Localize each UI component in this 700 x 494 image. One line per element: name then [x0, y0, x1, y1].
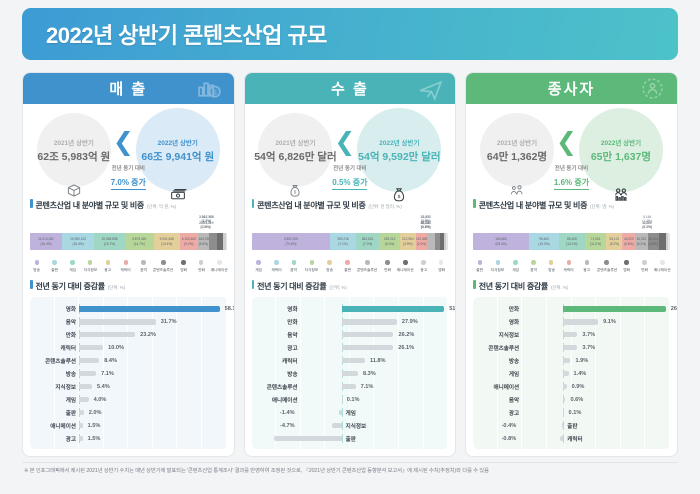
growth-bar — [79, 358, 99, 363]
growth-value: 58.1% — [222, 306, 235, 312]
legend-item: 광고 — [578, 260, 596, 273]
legend-label: 게임 — [512, 267, 519, 273]
growth-section-title: 전년 동기 대비 증감률(단위: %) — [30, 277, 227, 294]
growth-rows: 영화58.1%음악31.7%만화23.2%캐릭터10.0%콘텐츠솔루션8.4%방… — [34, 303, 223, 446]
legend-item: 캐릭터 — [267, 260, 285, 273]
growth-category-label: 애니메이션 — [477, 383, 519, 391]
stack-segment: 3,892,005(70.8%) — [252, 233, 331, 250]
growth-bar-area: 11.8% — [298, 356, 445, 365]
growth-value: 8.4% — [101, 358, 117, 364]
stack-title-text: 콘텐츠산업 내 분야별 규모 및 비중 — [257, 200, 365, 211]
stack-segment-pct: (6.6%) — [624, 242, 633, 246]
legend-label: 애니메이션 — [654, 267, 671, 273]
section-tick-icon — [473, 199, 476, 208]
growth-category-label: 방송 — [256, 370, 298, 378]
legend-item: 애니메이션 — [653, 260, 671, 273]
growth-bar — [79, 423, 83, 428]
growth-row: 만화23.2% — [34, 330, 223, 339]
growth-bar-area: 27.9% — [298, 317, 445, 326]
growth-category-label: 캐릭터 — [564, 435, 567, 443]
current-year-value: 54억 9,592만 달러 — [358, 149, 440, 164]
stack-segment — [427, 233, 435, 250]
legend-label: 지식정보 — [305, 267, 319, 273]
legend-label: 캐릭터 — [121, 267, 131, 273]
growth-bar-area: 0.1% — [298, 395, 445, 404]
growth-category-label: 출판 — [564, 422, 567, 430]
people-chart-icon — [612, 186, 629, 208]
legend-item: 게임 — [64, 260, 82, 273]
growth-bar — [339, 410, 342, 415]
growth-unit: (단위: %) — [108, 285, 125, 291]
stack-callout: 4,421(0.7%) — [642, 221, 652, 229]
legend-label: 애니메이션 — [397, 267, 414, 273]
legend-item: 음악 — [285, 260, 303, 273]
comparison-block: 2021년 상반기54억 6,826만 달러$❮2022년 상반기54억 9,5… — [245, 104, 456, 196]
growth-bar — [342, 306, 445, 311]
section-tick-icon — [252, 280, 255, 289]
growth-row: 출판2.0% — [34, 408, 223, 417]
legend-dot-icon — [161, 260, 166, 265]
growth-value: 9.1% — [600, 319, 616, 325]
legend-item: 게임 — [507, 260, 525, 273]
stack-segment: 10,990,132(16.4%) — [62, 233, 94, 250]
stack-segment-pct: (13.4%) — [161, 242, 172, 246]
stack-segment-pct: (15.7%) — [104, 242, 115, 246]
panel-header-employees: 종사자 — [466, 73, 677, 104]
legend-item: 방송 — [28, 260, 46, 273]
stack-legend: 게임캐릭터음악지식정보방송출판콘텐츠솔루션만화애니메이션광고영화 — [250, 260, 451, 273]
growth-bar-area: 0.6% — [519, 395, 666, 404]
legend-label: 콘텐츠솔루션 — [153, 267, 173, 273]
growth-row: 광고26.1% — [256, 343, 445, 352]
growth-row: 애니메이션0.1% — [256, 395, 445, 404]
stack-segment-pct: (7.0%) — [363, 242, 372, 246]
stack-segment: 9,001,548(13.4%) — [154, 233, 180, 250]
stack-segment — [226, 233, 227, 250]
growth-value: 0.1% — [344, 397, 360, 403]
stack-segment: 9,879,349(14.7%) — [125, 233, 154, 250]
growth-category-label: 만화 — [34, 331, 76, 339]
legend-item: 영화 — [175, 260, 193, 273]
growth-value: 3.7% — [579, 345, 595, 351]
previous-year-label: 2021년 상반기 — [54, 137, 94, 147]
growth-bar — [563, 384, 566, 389]
growth-bar — [342, 319, 397, 324]
growth-title-text: 전년 동기 대비 증감률 — [36, 281, 105, 292]
panel-title: 매 출 — [109, 78, 147, 99]
growth-bar-area — [519, 434, 666, 443]
growth-bar — [79, 384, 92, 389]
growth-row: 애니메이션0.9% — [477, 382, 666, 391]
growth-row: 캐릭터11.8% — [256, 356, 445, 365]
legend-item: 캐릭터 — [117, 260, 135, 273]
legend-dot-icon — [310, 260, 315, 265]
growth-rate: 1.6% 증가 — [554, 177, 589, 190]
growth-bar — [342, 384, 356, 389]
growth-bar — [79, 332, 135, 337]
growth-category-label: 광고 — [256, 344, 298, 352]
growth-caption: 전년 동기 대비 — [536, 164, 606, 172]
growth-value: 0.6% — [567, 397, 583, 403]
legend-label: 지식정보 — [83, 267, 97, 273]
section-tick-icon — [30, 280, 33, 289]
growth-bar-area: 1.4% — [519, 369, 666, 378]
growth-bar — [342, 371, 358, 376]
legend-dot-icon — [327, 260, 332, 265]
increase-arrow-icon: ❮ — [334, 130, 355, 155]
stacked-bar: 184,960(28.4%)99,460(15.3%)85,405(13.1%)… — [473, 233, 670, 250]
previous-year-label: 2021년 상반기 — [275, 137, 315, 147]
legend-dot-icon — [199, 260, 204, 265]
stack-segment: 11,014,062(16.4%) — [30, 233, 62, 250]
legend-label: 콘텐츠솔루션 — [597, 267, 617, 273]
growth-bar-area: 8.3% — [298, 369, 445, 378]
section-tick-icon — [252, 199, 255, 208]
legend-dot-icon — [439, 260, 444, 265]
cash-stack-icon — [169, 186, 186, 208]
stack-callouts: 22,097(3.4%)9,146(1.4%)4,421(0.7%) — [473, 215, 670, 233]
growth-category-label: 지식정보 — [34, 383, 76, 391]
growth-value: -1.4% — [256, 410, 298, 416]
stack-segment: 184,960(28.4%) — [473, 233, 529, 250]
growth-value: 1.5% — [85, 423, 101, 429]
growth-category-label: 캐릭터 — [256, 357, 298, 365]
stack-segment-pct: (70.8%) — [285, 242, 296, 246]
legend-item: 게임 — [250, 260, 268, 273]
legend-item: 만화 — [636, 260, 654, 273]
growth-row: 콘텐츠솔루션7.1% — [256, 382, 445, 391]
growth-title-text: 전년 동기 대비 증감률 — [479, 281, 548, 292]
panel-employees: 종사자2021년 상반기64만 1,362명❮2022년 상반기65만 1,63… — [465, 72, 678, 457]
growth-value: 0.9% — [569, 384, 585, 390]
growth-chart: 영화51.8%만화27.9%음악26.2%광고26.1%캐릭터11.8%방송8.… — [252, 297, 449, 450]
growth-bar — [332, 423, 341, 428]
legend-label: 출판 — [477, 267, 484, 273]
growth-row: 음악26.2% — [256, 330, 445, 339]
growth-bar — [563, 332, 577, 337]
growth-value: -4.7% — [256, 423, 298, 429]
growth-category-label: 출판 — [343, 435, 346, 443]
legend-dot-icon — [660, 260, 665, 265]
legend-item: 만화 — [192, 260, 210, 273]
legend-dot-icon — [274, 260, 279, 265]
growth-value: -0.4% — [477, 423, 519, 429]
stack-callouts: 83,143(1.5%)32,457(0.6%)24,231(0.4%)15,8… — [252, 215, 449, 233]
stack-segment-pct: (2.0%) — [417, 242, 426, 246]
panel-title: 수 출 — [331, 78, 369, 99]
growth-bar — [79, 319, 156, 324]
legend-label: 영화 — [180, 267, 187, 273]
growth-row: 음악31.7% — [34, 317, 223, 326]
stacked-bar: 11,014,062(16.4%)10,990,132(16.4%)10,545… — [30, 233, 227, 250]
comparison-block: 2021년 상반기62조 5,983억 원❮2022년 상반기66조 9,941… — [23, 104, 234, 196]
stack-segment — [668, 233, 669, 250]
stack-segment-pct: (5.8%) — [649, 242, 658, 246]
svg-text:$: $ — [398, 194, 401, 200]
legend-dot-icon — [478, 260, 483, 265]
growth-category-label: 음악 — [256, 331, 298, 339]
panel-container: 매 출$2021년 상반기62조 5,983억 원❮2022년 상반기66조 9… — [22, 72, 678, 457]
growth-row: 게임1.4% — [477, 369, 666, 378]
growth-row: 광고0.1% — [477, 408, 666, 417]
stack-segment — [659, 233, 666, 250]
legend-dot-icon — [403, 260, 408, 265]
growth-bar — [79, 345, 103, 350]
legend-label: 만화 — [198, 267, 205, 273]
stack-segment-pct: (5.6%) — [199, 242, 208, 246]
growth-bar — [79, 397, 89, 402]
growth-value: 1.5% — [85, 436, 101, 442]
growth-bar — [79, 371, 96, 376]
legend-dot-icon — [106, 260, 111, 265]
growth-bar-area: 58.1% — [76, 304, 223, 313]
growth-row: 지식정보5.4% — [34, 382, 223, 391]
growth-row: -0.4%출판 — [477, 421, 666, 430]
stack-segment: 112,498(2.0%) — [416, 233, 428, 250]
legend-label: 콘텐츠솔루션 — [357, 267, 377, 273]
growth-chart: 영화58.1%음악31.7%만화23.2%캐릭터10.0%콘텐츠솔루션8.4%방… — [30, 297, 227, 450]
stack-segment: 383,631(7.0%) — [356, 233, 380, 250]
legend-label: 방송 — [548, 267, 555, 273]
previous-year-value: 54억 6,826만 달러 — [254, 149, 336, 164]
legend-item: 광고 — [415, 260, 433, 273]
stack-segment: 10,545,858(15.7%) — [94, 233, 125, 250]
legend-label: 광고 — [583, 267, 590, 273]
stack-segment-pct: (3.9%) — [403, 242, 412, 246]
legend-label: 음악 — [140, 267, 147, 273]
growth-row: 영화58.1% — [34, 304, 223, 313]
legend-dot-icon — [642, 260, 647, 265]
legend-item: 방송 — [321, 260, 339, 273]
growth-bar-area: 31.7% — [76, 317, 223, 326]
previous-year-value: 64만 1,362명 — [487, 149, 547, 164]
legend-dot-icon — [70, 260, 75, 265]
growth-row: 애니메이션1.5% — [34, 421, 223, 430]
gear-people-icon — [640, 76, 665, 106]
legend-dot-icon — [217, 260, 222, 265]
stack-segment: 53,101(8.2%) — [606, 233, 622, 250]
growth-category-label: 캐릭터 — [34, 344, 76, 352]
legend-label: 출판 — [51, 267, 58, 273]
growth-unit: (단위: %) — [329, 285, 346, 291]
stacked-bar: 3,892,005(70.8%)392,216(7.1%)383,631(7.0… — [252, 233, 449, 250]
growth-row: 게임4.0% — [34, 395, 223, 404]
growth-bar-area: 3.7% — [519, 330, 666, 339]
stack-unit: (단위: 명, %) — [590, 204, 614, 210]
legend-dot-icon — [35, 260, 40, 265]
legend-dot-icon — [549, 260, 554, 265]
increase-arrow-icon: ❮ — [556, 130, 577, 155]
legend-item: 광고 — [99, 260, 117, 273]
stack-segment-pct: (14.7%) — [134, 242, 145, 246]
legend-dot-icon — [181, 260, 186, 265]
growth-category-label: 음악 — [34, 318, 76, 326]
growth-row: 콘텐츠솔루션8.4% — [34, 356, 223, 365]
growth-bar-area: 0.1% — [519, 408, 666, 417]
growth-bar-area: 26.7% — [519, 304, 666, 313]
legend-label: 애니메이션 — [211, 267, 228, 273]
legend-item: 애니메이션 — [210, 260, 228, 273]
growth-bar-area — [298, 408, 445, 417]
legend-label: 음악 — [291, 267, 298, 273]
growth-category-label: 게임 — [34, 396, 76, 404]
growth-row: 음악0.6% — [477, 395, 666, 404]
growth-title-text: 전년 동기 대비 증감률 — [257, 281, 326, 292]
growth-bar-area — [519, 421, 666, 430]
stack-section-title: 콘텐츠산업 내 분야별 규모 및 비중(단위: 명, %) — [473, 196, 670, 213]
growth-category-label: 광고 — [477, 409, 519, 417]
stack-segment: 392,216(7.1%) — [330, 233, 356, 250]
growth-category-label: 광고 — [34, 435, 76, 443]
growth-bar-area: 1.5% — [76, 421, 223, 430]
legend-label: 방송 — [326, 267, 333, 273]
growth-bar-area: 26.1% — [298, 343, 445, 352]
growth-row: 영화9.1% — [477, 317, 666, 326]
footnote-divider — [22, 462, 678, 463]
legend-label: 광고 — [105, 267, 112, 273]
stack-segment-pct: (16.4%) — [40, 242, 51, 246]
growth-caption: 전년 동기 대비 — [93, 164, 163, 172]
growth-row: -0.8%캐릭터 — [477, 434, 666, 443]
stack-segment: 212,554(3.9%) — [400, 233, 416, 250]
section-tick-icon — [30, 199, 33, 208]
growth-category-label: 게임 — [343, 409, 346, 417]
legend-item: 영화 — [432, 260, 450, 273]
growth-bar-area: 51.8% — [298, 304, 445, 313]
legend-label: 영화 — [623, 267, 630, 273]
growth-category-label: 출판 — [34, 409, 76, 417]
stack-segment-pct: (11.0%) — [590, 242, 601, 246]
growth-bar-area: 23.2% — [76, 330, 223, 339]
stack-segment-pct: (15.3%) — [538, 242, 549, 246]
stack-segment: 71,501(11.0%) — [585, 233, 607, 250]
growth-value: 0.1% — [566, 410, 582, 416]
panel-header-sales: 매 출$ — [23, 73, 234, 104]
growth-row: 지식정보3.7% — [477, 330, 666, 339]
legend-item: 만화 — [378, 260, 396, 273]
stacked-bar-chart: 2,863,988(4.3%)1,871,709(2.8%)1,047,129(… — [30, 215, 227, 255]
growth-bar — [562, 423, 564, 428]
growth-row: -34.2%출판 — [256, 434, 445, 443]
current-year-label: 2022년 상반기 — [379, 137, 419, 147]
section-tick-icon — [473, 280, 476, 289]
growth-bar — [563, 306, 666, 311]
current-year-value: 66조 9,941억 원 — [141, 149, 214, 164]
growth-value: 1.9% — [572, 358, 588, 364]
growth-category-label: 애니메이션 — [256, 396, 298, 404]
growth-chart: 만화26.7%영화9.1%지식정보3.7%콘텐츠솔루션3.7%방송1.9%게임1… — [473, 297, 670, 450]
box-icon — [66, 183, 81, 203]
growth-rows: 만화26.7%영화9.1%지식정보3.7%콘텐츠솔루션3.7%방송1.9%게임1… — [477, 303, 666, 446]
growth-bar-area: 4.0% — [76, 395, 223, 404]
growth-bar — [560, 436, 563, 441]
legend-dot-icon — [496, 260, 501, 265]
growth-value: 5.4% — [94, 384, 110, 390]
legend-item: 콘텐츠솔루션 — [152, 260, 174, 273]
legend-item: 지식정보 — [81, 260, 99, 273]
growth-bar — [563, 371, 568, 376]
legend-item: 애니메이션 — [396, 260, 414, 273]
growth-bar — [79, 410, 84, 415]
growth-value: 2.0% — [86, 410, 102, 416]
stack-title-text: 콘텐츠산업 내 분야별 규모 및 비중 — [479, 200, 587, 211]
growth-category-label: 콘텐츠솔루션 — [477, 344, 519, 352]
footnote: ※ 본 인포그래픽에서 제시된 2021년 상반기 수치는 매년 상반기에 발표… — [24, 468, 674, 475]
stack-segment — [446, 233, 448, 250]
stack-segment-pct: (8.2%) — [610, 242, 619, 246]
growth-row: 콘텐츠솔루션3.7% — [477, 343, 666, 352]
growth-value: 51.8% — [446, 306, 456, 312]
growth-section-title: 전년 동기 대비 증감률(단위: %) — [473, 277, 670, 294]
growth-value: 1.4% — [571, 371, 587, 377]
growth-badge: 전년 동기 대비1.6% 증가 — [536, 164, 606, 190]
growth-bar-area: 26.2% — [298, 330, 445, 339]
growth-bar-area: 1.9% — [519, 356, 666, 365]
growth-row: 방송7.1% — [34, 369, 223, 378]
growth-value: 4.0% — [91, 397, 107, 403]
growth-bar-area: 2.0% — [76, 408, 223, 417]
legend-item: 출판 — [339, 260, 357, 273]
legend-dot-icon — [421, 260, 426, 265]
stack-segment — [209, 233, 217, 250]
legend-label: 게임 — [69, 267, 76, 273]
legend-dot-icon — [567, 260, 572, 265]
growth-row: -4.7%지식정보 — [256, 421, 445, 430]
growth-value: 10.0% — [105, 345, 124, 351]
current-year-label: 2022년 상반기 — [158, 137, 198, 147]
previous-year-label: 2021년 상반기 — [497, 137, 537, 147]
legend-item: 음악 — [135, 260, 153, 273]
growth-bar-area: 9.1% — [519, 317, 666, 326]
growth-row: 방송1.9% — [477, 356, 666, 365]
legend-dot-icon — [52, 260, 57, 265]
previous-year-value: 62조 5,983억 원 — [37, 149, 110, 164]
legend-label: 출판 — [344, 267, 351, 273]
money-bag-icon: $ — [288, 183, 303, 203]
growth-rate: 7.0% 증가 — [111, 177, 146, 190]
stack-callout: 8,101(0.1%) — [421, 221, 431, 229]
stacked-bar-chart: 83,143(1.5%)32,457(0.6%)24,231(0.4%)15,8… — [252, 215, 449, 255]
stack-segment-pct: (16.4%) — [73, 242, 84, 246]
stack-segment: 40,522(6.2%) — [635, 233, 647, 250]
growth-category-label: 지식정보 — [477, 331, 519, 339]
stack-segment-pct: (28.4%) — [495, 242, 506, 246]
growth-value: 7.1% — [98, 371, 114, 377]
legend-item: 콘텐츠솔루션 — [356, 260, 378, 273]
growth-value: 26.2% — [395, 332, 414, 338]
legend-item: 콘텐츠솔루션 — [596, 260, 618, 273]
growth-badge: 전년 동기 대비0.5% 증가 — [315, 164, 385, 190]
growth-category-label: 게임 — [477, 370, 519, 378]
stack-callout: 275,619(0.4%) — [199, 221, 211, 229]
bar-chart-coin-icon: $ — [197, 76, 222, 106]
stack-segment: 3,814,056(5.6%) — [198, 233, 209, 250]
legend-dot-icon — [292, 260, 297, 265]
page-header: 2022년 상반기 콘텐츠산업 규모 — [22, 8, 678, 60]
stack-segment-pct: (7.1%) — [338, 242, 347, 246]
legend-label: 만화 — [384, 267, 391, 273]
growth-category-label: 영화 — [34, 305, 76, 313]
stack-legend: 출판지식정보게임음악방송캐릭터광고콘텐츠솔루션영화만화애니메이션 — [471, 260, 672, 273]
increase-arrow-icon: ❮ — [113, 130, 134, 155]
growth-row: 만화26.7% — [477, 304, 666, 313]
comparison-block: 2021년 상반기64만 1,362명❮2022년 상반기65만 1,637명전… — [466, 104, 677, 196]
stack-segment-pct: (13.1%) — [566, 242, 577, 246]
stack-section-title: 콘텐츠산업 내 분야별 규모 및 비중(단위: 천 달러, %) — [252, 196, 449, 213]
growth-value: 31.7% — [158, 319, 177, 325]
stack-segment-pct: (6.0%) — [385, 242, 394, 246]
legend-label: 방송 — [33, 267, 40, 273]
